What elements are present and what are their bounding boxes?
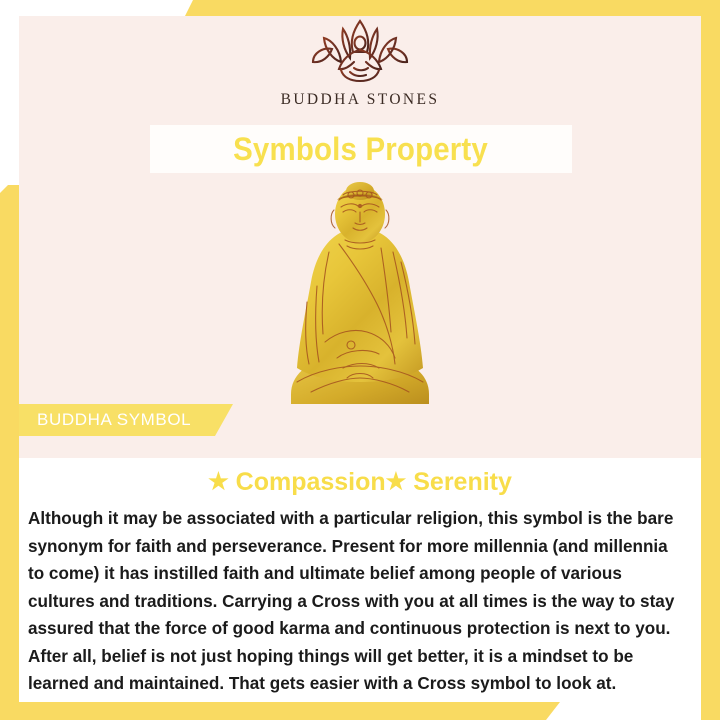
golden-seated-buddha-illustration (281, 182, 439, 412)
section-body-text: Although it may be associated with a par… (28, 505, 683, 698)
content-panel: ★ Compassion★ Serenity Although it may b… (19, 458, 701, 702)
decor-bottom-band (0, 702, 560, 720)
lotus-meditation-icon (301, 14, 419, 86)
brand-logo: BUDDHA STONES (0, 14, 720, 109)
star-icon-2: ★ (386, 468, 407, 494)
poster-root: BUDDHA STONES Symbols Property (0, 0, 720, 720)
title-banner: Symbols Property (150, 125, 572, 173)
ribbon-label: BUDDHA SYMBOL (19, 410, 191, 430)
star-icon-1: ★ (208, 468, 229, 494)
brand-name: BUDDHA STONES (281, 91, 440, 109)
subtitle-word-compassion: Compassion (236, 468, 386, 496)
section-subtitle: ★ Compassion★ Serenity (19, 468, 701, 497)
page-title: Symbols Property (234, 131, 489, 168)
subtitle-word-serenity: Serenity (413, 468, 512, 496)
buddha-symbol-ribbon: BUDDHA SYMBOL (19, 404, 233, 436)
decor-left-band (0, 185, 19, 720)
